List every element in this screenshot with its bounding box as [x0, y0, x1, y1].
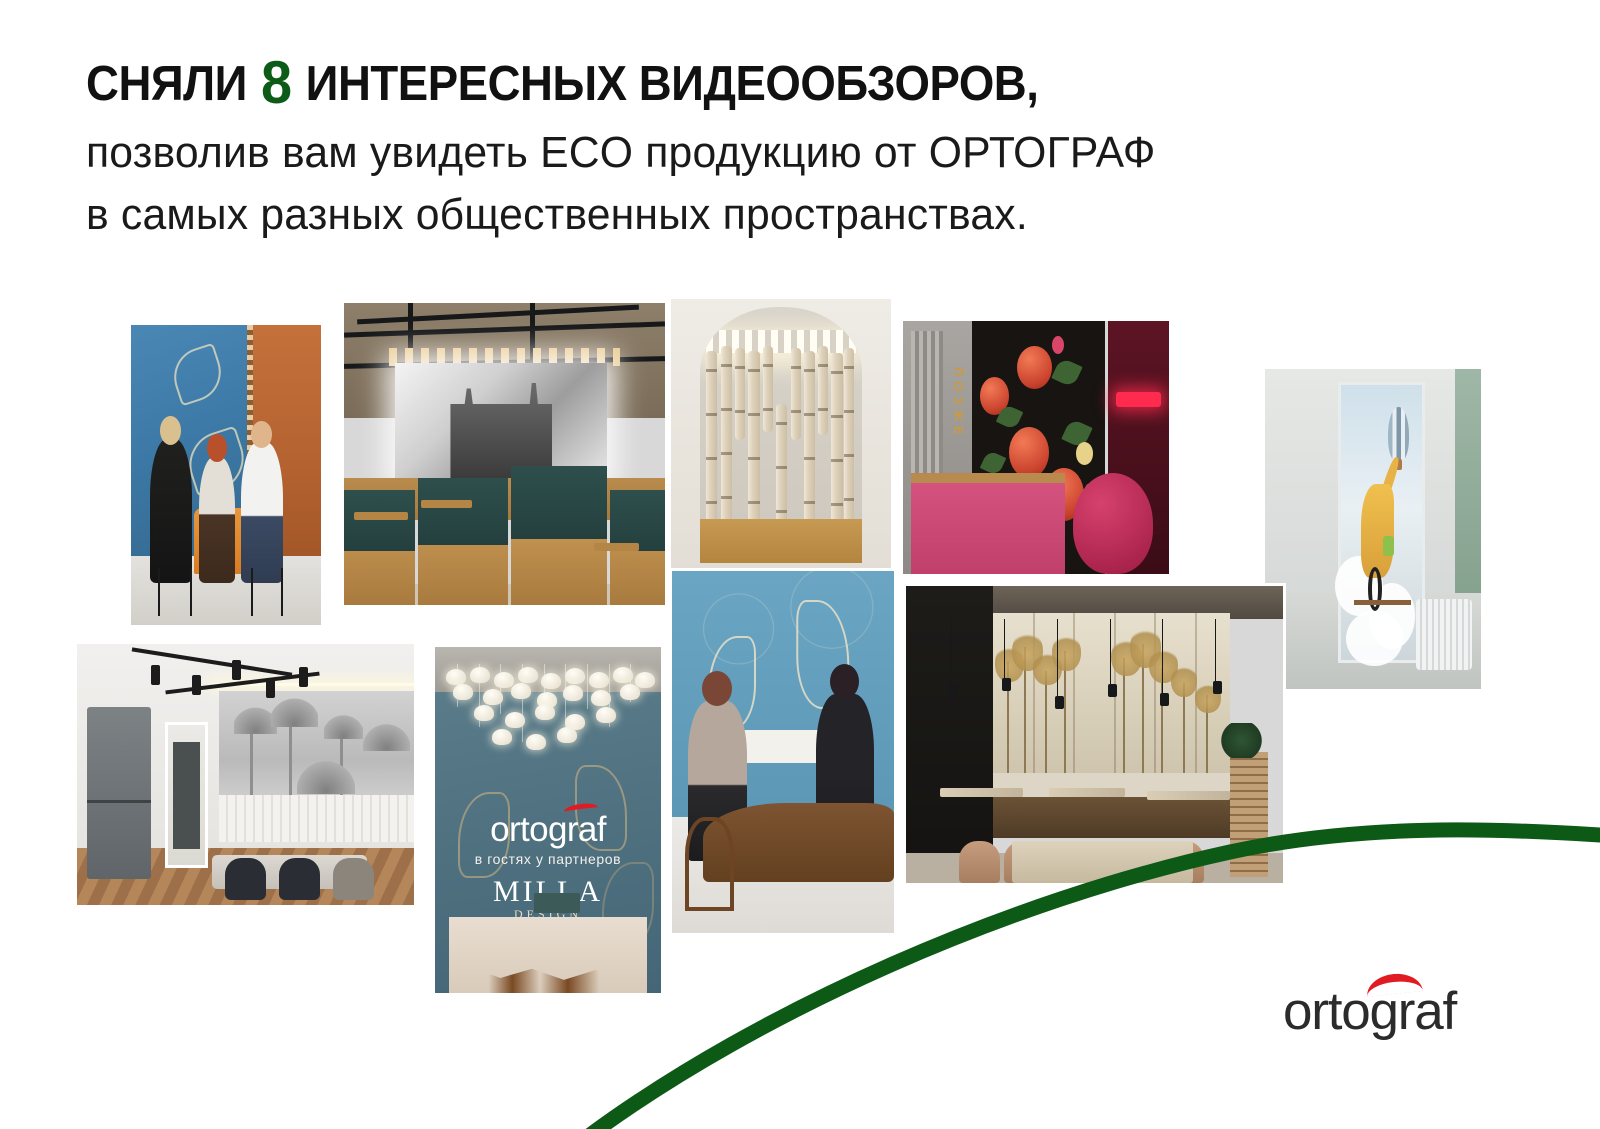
photo-two-women-flamingo-wall[interactable] [669, 568, 897, 936]
pomegranate-pouf [1073, 473, 1153, 574]
cafe-table [354, 512, 409, 520]
person-standing-left [150, 439, 192, 583]
photo-giraffe-balloon-lift-lobby[interactable] [1262, 366, 1484, 692]
hot-air-balloon [1388, 407, 1409, 462]
restaurant-table [1147, 791, 1230, 800]
giraffe-wall-panel [1338, 382, 1424, 664]
wooden-chair [685, 817, 734, 911]
wall-vertical-label: ПОЗЖЕ [951, 367, 966, 440]
photo-kitchen-tropical-mural[interactable] [74, 641, 417, 908]
restaurant-chair [959, 841, 1000, 883]
cafe-table [421, 500, 472, 508]
glass-door [165, 722, 209, 868]
decor-plant [1219, 723, 1264, 759]
arched-niche [700, 307, 863, 563]
photo-milla-design-showroom[interactable]: ortograf в гостях у партнеров MILLA DESI… [432, 644, 664, 996]
cafe-table [594, 543, 639, 551]
refrigerator [87, 707, 151, 879]
photo-pomegranate-mural-reception[interactable]: ПОЗЖЕ [900, 318, 1172, 577]
striped-curtain [911, 331, 943, 483]
dining-chair [225, 858, 265, 900]
wood-base-panel [700, 519, 863, 562]
photo-interview-blue-terracotta-wall[interactable] [128, 322, 324, 628]
dining-chair [333, 858, 373, 900]
reception-counter-top [911, 473, 1065, 483]
decor-boxes [534, 893, 579, 914]
firewood-stack [1230, 752, 1268, 877]
photo-restaurant-pine-forest-mural[interactable] [903, 583, 1286, 886]
ortograf-wall-logo: ortograf [435, 810, 661, 850]
person-center [199, 457, 235, 583]
dining-chair [279, 858, 319, 900]
leather-banquette [993, 797, 1231, 839]
foreground-table [1012, 841, 1193, 883]
flower-chandelier [440, 664, 657, 789]
pink-reception-desk [911, 483, 1065, 574]
dark-wall-panel [906, 586, 993, 883]
ortograf-logo[interactable]: ortograf [1283, 975, 1483, 1045]
restaurant-table [1049, 788, 1124, 797]
neon-sign [1116, 392, 1161, 407]
photo-loft-cafe-bw-mural[interactable] [341, 300, 668, 608]
waiting-bench [1416, 599, 1472, 669]
giraffe-illustration [1361, 484, 1395, 578]
wall-panel-boards [219, 795, 414, 842]
pine-forest-mural [993, 613, 1231, 785]
tightrope [1354, 600, 1410, 605]
photo-birch-logs-arch[interactable] [668, 296, 894, 574]
ortograf-logo-text: ortograf [1283, 981, 1456, 1042]
photo-collage: ПОЗЖЕ [0, 0, 1600, 1129]
person-right [241, 442, 283, 583]
partner-tagline: в гостях у партнеров [435, 851, 661, 867]
restaurant-table [940, 788, 1023, 797]
